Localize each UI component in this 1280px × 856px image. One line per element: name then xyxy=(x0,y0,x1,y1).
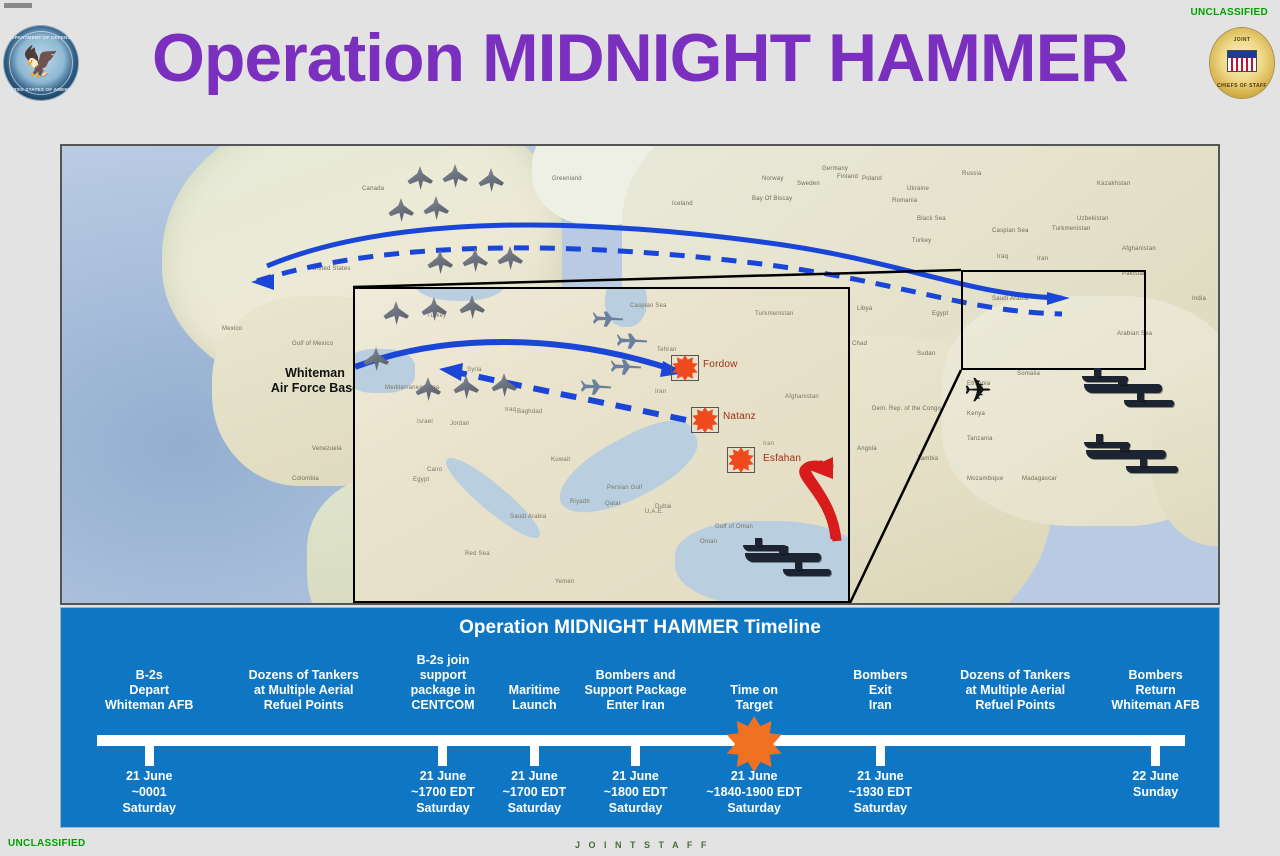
inset-country-label-iran: Iran xyxy=(763,441,774,447)
timeline-event-line: at Multiple Aerial xyxy=(229,683,379,698)
tanker-aircraft-icon: ✈ xyxy=(952,374,1004,408)
timeline-date-line: 22 June xyxy=(1076,768,1236,784)
target-label-natanz: Natanz xyxy=(723,411,756,422)
timeline-event-line: Bombers xyxy=(1081,668,1231,683)
timeline-event-line: support xyxy=(368,668,518,683)
joint-staff-footer: J O I N T S T A F F xyxy=(575,840,709,850)
shield-chief xyxy=(1228,51,1256,58)
carrier-icon xyxy=(745,553,821,562)
inset-return-route xyxy=(451,371,691,421)
timeline-date-line: ~1930 EDT xyxy=(800,784,960,800)
timeline-tick-bombers-exit-iran xyxy=(876,738,885,766)
department-of-defense-seal: DEPARTMENT OF DEFENSE 🦅 UNITED STATES OF… xyxy=(4,26,78,100)
shield-icon xyxy=(1227,50,1257,72)
carrier-island xyxy=(1118,377,1127,385)
timeline-date-line: ~0001 xyxy=(69,784,229,800)
timeline-event-label-bombers-exit-iran: BombersExitIran xyxy=(805,668,955,713)
timeline-date-line: Sunday xyxy=(1076,784,1236,800)
timeline-event-line: Bombers xyxy=(805,668,955,683)
carrier-icon xyxy=(1084,384,1162,393)
return-route-arrow xyxy=(251,274,274,290)
target-label-esfahan: Esfahan xyxy=(763,453,801,464)
timeline-event-line: Depart xyxy=(74,683,224,698)
operation-timeline: Operation MIDNIGHT HAMMER Timeline B-2sD… xyxy=(60,607,1220,828)
timeline-event-line: B-2s xyxy=(74,668,224,683)
timeline-event-date-b2s-depart: 21 June~0001Saturday xyxy=(69,768,229,816)
page-title: Operation MIDNIGHT HAMMER xyxy=(0,24,1280,92)
timeline-event-line: Refuel Points xyxy=(229,698,379,713)
timeline-date-line: Saturday xyxy=(800,800,960,816)
timeline-event-line: Whiteman AFB xyxy=(1081,698,1231,713)
timeline-event-label-tankers-refuel-2: Dozens of Tankersat Multiple AerialRefue… xyxy=(940,668,1090,713)
timeline-event-line: at Multiple Aerial xyxy=(940,683,1090,698)
timeline-event-line: Dozens of Tankers xyxy=(229,668,379,683)
timeline-event-date-bombers-exit-iran: 21 June~1930 EDTSaturday xyxy=(800,768,960,816)
carrier-island xyxy=(1120,443,1129,451)
timeline-date-line: 21 June xyxy=(69,768,229,784)
timeline-date-line: 21 June xyxy=(800,768,960,784)
middle-east-inset-map: TurkeySyriaIraqIranJordanIsraelEgyptSaud… xyxy=(353,287,850,603)
jcs-seal-top-text: JOINT xyxy=(1208,37,1276,43)
timeline-event-line: Exit xyxy=(805,683,955,698)
timeline-title: Operation MIDNIGHT HAMMER Timeline xyxy=(61,617,1219,639)
timeline-event-line: Return xyxy=(1081,683,1231,698)
target-label-fordow: Fordow xyxy=(703,359,738,370)
timeline-tick-b2s-join-centcom xyxy=(438,738,447,766)
inset-zoom-region-indicator xyxy=(961,270,1146,370)
warship-icon xyxy=(783,569,831,576)
jcs-seal-bottom-text: CHIEFS OF STAFF xyxy=(1208,83,1276,89)
joint-chiefs-of-staff-seal: JOINT CHIEFS OF STAFF xyxy=(1208,26,1276,100)
warship-superstructure xyxy=(1096,434,1103,443)
classification-banner-bottom: UNCLASSIFIED xyxy=(8,838,86,849)
carrier-icon xyxy=(1086,450,1166,459)
corner-registration-mark xyxy=(4,3,32,8)
warship-superstructure xyxy=(755,538,762,546)
carrier-island xyxy=(779,546,788,554)
timeline-tick-b2s-depart xyxy=(145,738,154,766)
operation-map: CanadaUnited StatesMexicoGulf of MexicoG… xyxy=(60,144,1220,605)
timeline-date-line: Saturday xyxy=(69,800,229,816)
warship-icon xyxy=(1126,466,1178,473)
timeline-event-line: Iran xyxy=(805,698,955,713)
timeline-event-label-bombers-return: BombersReturnWhiteman AFB xyxy=(1081,668,1231,713)
dod-seal-top-text: DEPARTMENT OF DEFENSE xyxy=(4,35,78,40)
warship-superstructure xyxy=(1137,393,1144,401)
timeline-event-label-b2s-depart: B-2sDepartWhiteman AFB xyxy=(74,668,224,713)
timeline-event-line: Refuel Points xyxy=(940,698,1090,713)
warship-superstructure xyxy=(1140,459,1147,467)
timeline-event-line: Whiteman AFB xyxy=(74,698,224,713)
warship-superstructure xyxy=(795,562,802,570)
timeline-tick-bombers-enter-iran xyxy=(631,738,640,766)
timeline-event-label-tankers-refuel-1: Dozens of Tankersat Multiple AerialRefue… xyxy=(229,668,379,713)
dod-seal-bottom-text: UNITED STATES OF AMERICA xyxy=(4,87,78,92)
warship-superstructure xyxy=(1094,368,1101,377)
timeline-event-line: Bombers and xyxy=(561,668,711,683)
timeline-tick-bombers-return xyxy=(1151,738,1160,766)
timeline-tick-maritime-launch xyxy=(530,738,539,766)
timeline-event-line: Dozens of Tankers xyxy=(940,668,1090,683)
eagle-icon: 🦅 xyxy=(22,48,59,78)
timeline-event-date-bombers-return: 22 JuneSunday xyxy=(1076,768,1236,800)
inset-return-arrow xyxy=(439,363,463,381)
classification-banner-top: UNCLASSIFIED xyxy=(1191,7,1269,18)
timeline-axis-bar xyxy=(97,735,1185,746)
warship-icon xyxy=(1124,400,1174,407)
timeline-event-line: B-2s join xyxy=(368,653,518,668)
